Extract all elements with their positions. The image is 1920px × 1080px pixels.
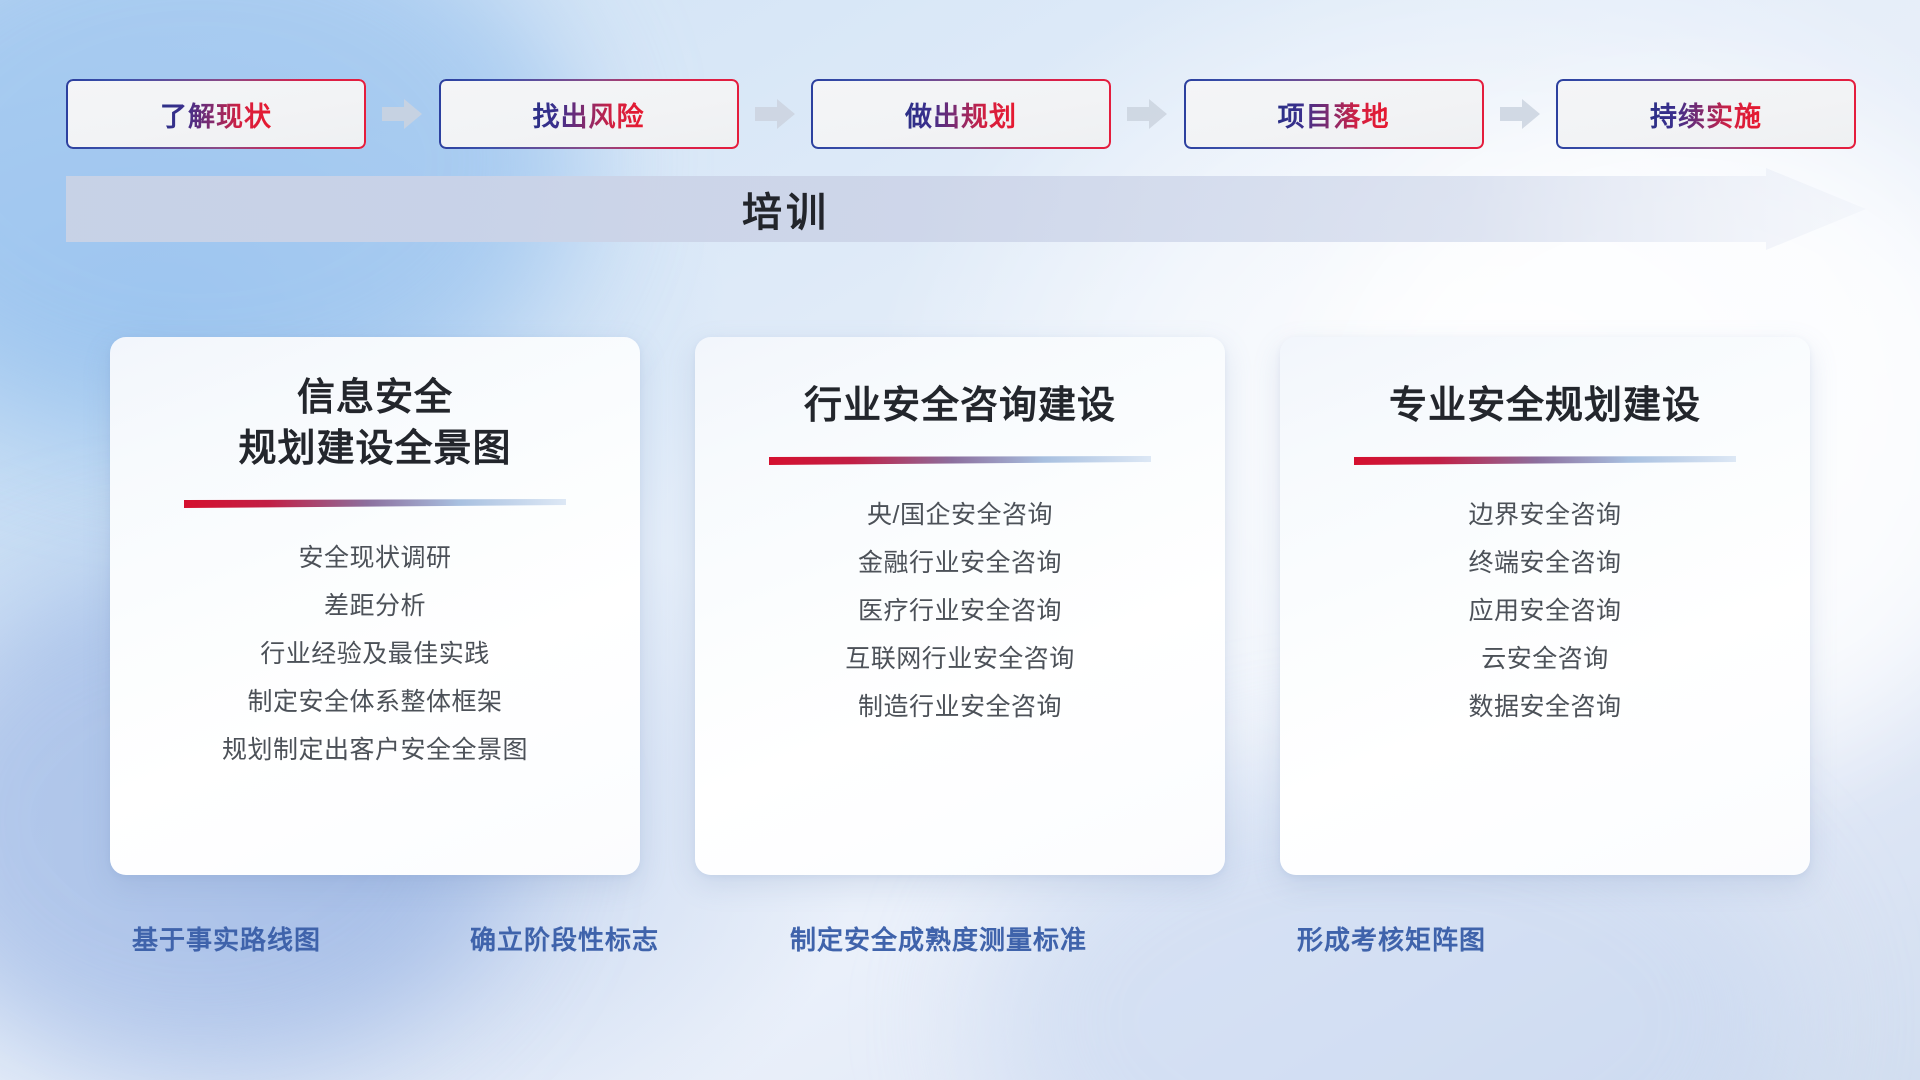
process-step-4-label: 项目落地 — [1278, 95, 1390, 134]
process-step-5-label: 持续实施 — [1650, 95, 1762, 134]
card-divider — [769, 456, 1151, 465]
card-title-line: 行业安全咨询建设 — [804, 381, 1116, 432]
card-list-item: 互联网行业安全咨询 — [845, 639, 1075, 680]
card-title: 信息安全 规划建设全景图 — [214, 373, 535, 475]
process-step-5[interactable]: 持续实施 — [1556, 79, 1856, 149]
card-row: 信息安全 规划建设全景图 — [110, 337, 1810, 877]
card-item-list: 安全现状调研 差距分析 行业经验及最佳实践 制定安全体系整体框架 规划制定出客户… — [110, 538, 640, 771]
card-list-item: 边界安全咨询 — [1468, 495, 1621, 536]
card-list-item: 行业经验及最佳实践 — [260, 634, 490, 675]
card-divider — [1354, 456, 1736, 465]
process-step-3[interactable]: 做出规划 — [811, 79, 1111, 149]
card-list-item: 制造行业安全咨询 — [858, 687, 1062, 728]
card-item-list: 边界安全咨询 终端安全咨询 应用安全咨询 云安全咨询 数据安全咨询 — [1280, 495, 1810, 728]
arrow-right-icon — [753, 97, 797, 131]
process-step-row: 了解现状 找出风险 做出规划 项目落地 持续实施 — [66, 78, 1856, 150]
process-step-3-label: 做出规划 — [905, 95, 1017, 134]
process-step-2[interactable]: 找出风险 — [439, 79, 739, 149]
card-title-line: 信息安全 — [238, 373, 511, 424]
card-list-item: 终端安全咨询 — [1468, 543, 1621, 584]
card-professional-security-planning[interactable]: 专业安全规划建设 边 — [1280, 337, 1810, 875]
process-step-1-label: 了解现状 — [160, 95, 272, 134]
footer-label-matrix: 形成考核矩阵图 — [1297, 920, 1486, 957]
card-list-item: 云安全咨询 — [1481, 639, 1609, 680]
card-title-line: 规划建设全景图 — [238, 424, 511, 475]
process-step-1[interactable]: 了解现状 — [66, 79, 366, 149]
card-list-item: 安全现状调研 — [298, 538, 451, 579]
card-list-item: 央/国企安全咨询 — [867, 495, 1053, 536]
card-divider — [184, 499, 566, 508]
footer-label-maturity: 制定安全成熟度测量标准 — [790, 920, 1087, 957]
card-list-item: 规划制定出客户安全全景图 — [222, 730, 528, 771]
card-list-item: 数据安全咨询 — [1468, 687, 1621, 728]
card-list-item: 差距分析 — [324, 586, 426, 627]
footer-label-milestone: 确立阶段性标志 — [470, 920, 659, 957]
arrow-right-icon — [380, 97, 424, 131]
card-list-item: 金融行业安全咨询 — [858, 543, 1062, 584]
footer-label-row: 基于事实路线图 确立阶段性标志 制定安全成熟度测量标准 形成考核矩阵图 — [0, 920, 1920, 970]
training-band-label: 培训 — [66, 168, 1506, 250]
card-list-item: 医疗行业安全咨询 — [858, 591, 1062, 632]
card-list-item: 应用安全咨询 — [1468, 591, 1621, 632]
arrow-right-icon — [1125, 97, 1169, 131]
process-step-4[interactable]: 项目落地 — [1184, 79, 1484, 149]
slide-canvas: 了解现状 找出风险 做出规划 项目落地 持续实施 — [0, 0, 1920, 1080]
training-band: 培训 — [66, 168, 1866, 250]
card-information-security-blueprint[interactable]: 信息安全 规划建设全景图 — [110, 337, 640, 875]
footer-label-roadmap: 基于事实路线图 — [132, 920, 321, 957]
process-step-2-label: 找出风险 — [533, 95, 645, 134]
card-industry-security-consulting[interactable]: 行业安全咨询建设 央 — [695, 337, 1225, 875]
card-title: 行业安全咨询建设 — [780, 381, 1140, 432]
arrow-right-icon — [1498, 97, 1542, 131]
card-item-list: 央/国企安全咨询 金融行业安全咨询 医疗行业安全咨询 互联网行业安全咨询 制造行… — [695, 495, 1225, 728]
card-title-line: 专业安全规划建设 — [1389, 381, 1701, 432]
card-title: 专业安全规划建设 — [1365, 381, 1725, 432]
card-list-item: 制定安全体系整体框架 — [247, 682, 502, 723]
